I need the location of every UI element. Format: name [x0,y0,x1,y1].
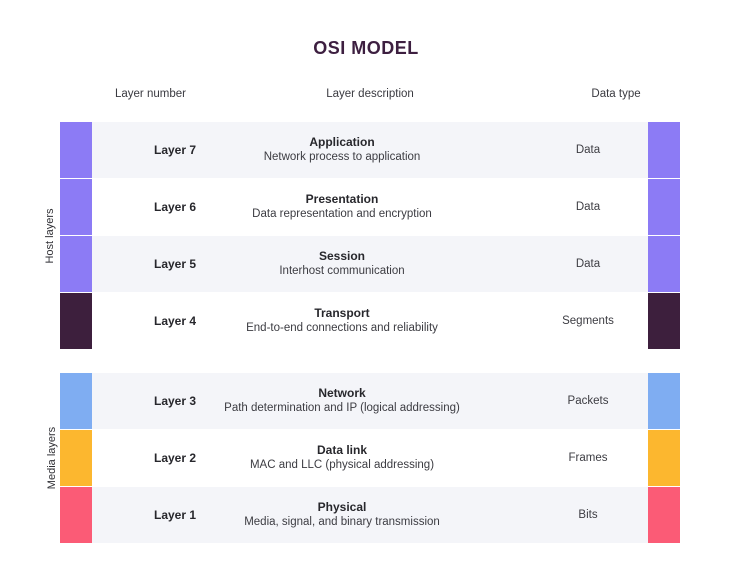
layer-number: Layer 1 [154,508,196,522]
layer-data-type: Data [576,258,600,270]
row-body: Layer 6PresentationData representation a… [92,179,648,235]
layer-number: Layer 5 [154,257,196,271]
layer-description: PresentationData representation and encr… [252,191,432,223]
layer-data-type: Packets [568,395,609,407]
table-row[interactable]: Layer 1PhysicalMedia, signal, and binary… [60,487,680,543]
layer-description: PhysicalMedia, signal, and binary transm… [244,499,440,531]
layer-color-bar-right [648,487,680,543]
layer-color-bar-left [60,293,92,349]
column-header-data-type: Data type [591,88,640,100]
table-row[interactable]: Layer 2Data linkMAC and LLC (physical ad… [60,430,680,486]
layer-description-text: MAC and LLC (physical addressing) [250,458,434,474]
layer-number: Layer 4 [154,314,196,328]
layer-name: Network [224,385,460,401]
layer-description: SessionInterhost communication [279,248,404,280]
layer-data-type: Data [576,144,600,156]
table-row[interactable]: Layer 5SessionInterhost communicationDat… [60,236,680,292]
layer-color-bar-right [648,179,680,235]
layer-color-bar-right [648,430,680,486]
layer-description: TransportEnd-to-end connections and reli… [246,305,438,337]
row-body: Layer 3NetworkPath determination and IP … [92,373,648,429]
row-body: Layer 1PhysicalMedia, signal, and binary… [92,487,648,543]
layer-description-text: End-to-end connections and reliability [246,321,438,337]
layer-color-bar-left [60,122,92,178]
row-body: Layer 4TransportEnd-to-end connections a… [92,293,648,349]
group-label-media-layers: Media layers [46,408,58,508]
page-title: OSI MODEL [0,38,732,59]
group-label-host-layers: Host layers [44,181,56,291]
table-row[interactable]: Layer 3NetworkPath determination and IP … [60,373,680,429]
layer-name: Session [279,248,404,264]
table-row[interactable]: Layer 4TransportEnd-to-end connections a… [60,293,680,349]
column-header-layer-description: Layer description [326,88,414,100]
layer-description-text: Path determination and IP (logical addre… [224,401,460,417]
layer-description: ApplicationNetwork process to applicatio… [264,134,421,166]
row-body: Layer 2Data linkMAC and LLC (physical ad… [92,430,648,486]
layer-description-text: Media, signal, and binary transmission [244,515,440,531]
layer-number: Layer 3 [154,394,196,408]
layer-color-bar-left [60,179,92,235]
layer-color-bar-right [648,122,680,178]
layer-name: Application [264,134,421,150]
layer-color-bar-left [60,236,92,292]
row-body: Layer 5SessionInterhost communicationDat… [92,236,648,292]
layer-number: Layer 7 [154,143,196,157]
column-header-row: Layer number Layer description Data type [60,88,680,108]
table-row[interactable]: Layer 6PresentationData representation a… [60,179,680,235]
layer-number: Layer 6 [154,200,196,214]
layer-data-type: Frames [569,452,608,464]
layer-data-type: Bits [578,509,597,521]
layer-description-text: Network process to application [264,150,421,166]
layer-name: Presentation [252,191,432,207]
layer-description: Data linkMAC and LLC (physical addressin… [250,442,434,474]
layer-color-bar-right [648,373,680,429]
layer-description: NetworkPath determination and IP (logica… [224,385,460,417]
layer-color-bar-right [648,293,680,349]
layer-name: Transport [246,305,438,321]
layer-color-bar-left [60,373,92,429]
layer-color-bar-right [648,236,680,292]
layer-data-type: Data [576,201,600,213]
table-row[interactable]: Layer 7ApplicationNetwork process to app… [60,122,680,178]
host-layers-stack: Layer 7ApplicationNetwork process to app… [60,122,680,350]
layer-number: Layer 2 [154,451,196,465]
layer-name: Data link [250,442,434,458]
layer-name: Physical [244,499,440,515]
row-body: Layer 7ApplicationNetwork process to app… [92,122,648,178]
column-header-layer-number: Layer number [115,88,186,100]
media-layers-stack: Layer 3NetworkPath determination and IP … [60,373,680,544]
layer-color-bar-left [60,487,92,543]
layer-description-text: Interhost communication [279,264,404,280]
layer-data-type: Segments [562,315,614,327]
layer-description-text: Data representation and encryption [252,207,432,223]
layer-color-bar-left [60,430,92,486]
